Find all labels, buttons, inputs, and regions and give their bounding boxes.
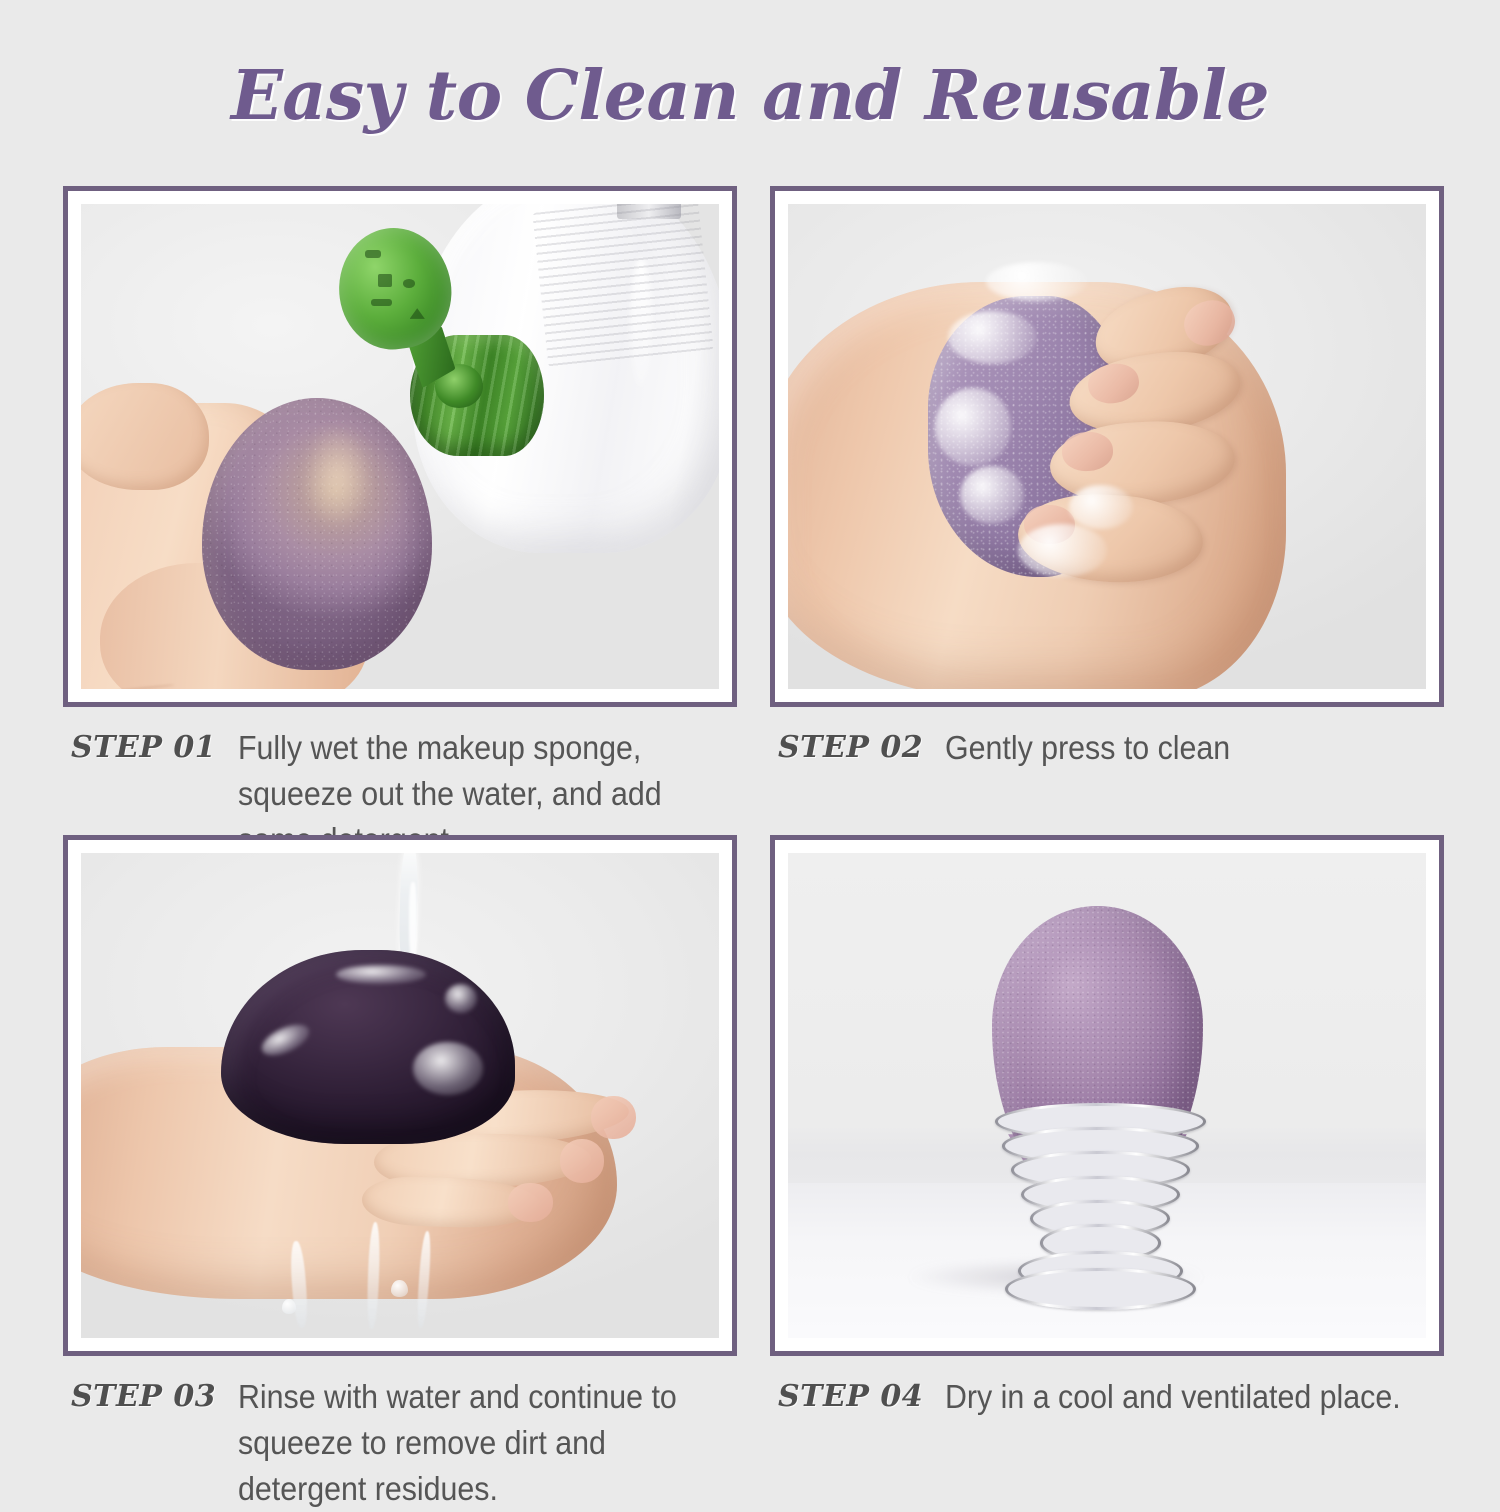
step-photo-4 xyxy=(770,835,1444,1356)
soap-foam xyxy=(948,311,1037,364)
photo-frame-2 xyxy=(770,186,1444,707)
lid-marking xyxy=(365,250,382,258)
finger-crease xyxy=(116,684,175,689)
photo-frame-4 xyxy=(770,835,1444,1356)
step-label-1: STEP 01 xyxy=(71,725,238,771)
caption-4: STEP 04 Dry in a cool and ventilated pla… xyxy=(770,1356,1444,1420)
lid-marking xyxy=(371,299,391,306)
water-droplet xyxy=(391,1280,408,1297)
step-label-2: STEP 02 xyxy=(778,725,945,771)
spiral-holder-base-ring xyxy=(1005,1268,1196,1310)
soap-foam xyxy=(986,262,1088,301)
step-text-3: Rinse with water and continue to squeeze… xyxy=(238,1374,697,1512)
water-glint xyxy=(445,984,477,1013)
instruction-infographic: Easy to Clean and Reusable xyxy=(0,0,1500,1500)
page-title: Easy to Clean and Reusable xyxy=(0,56,1500,136)
photo-image-2 xyxy=(788,204,1426,689)
water-glint xyxy=(413,1042,483,1095)
fingertip xyxy=(560,1139,605,1183)
lid-marking xyxy=(378,274,392,287)
step-label-3: STEP 03 xyxy=(71,1374,238,1420)
water-stream-highlight xyxy=(409,882,417,960)
step-text-2: Gently press to clean xyxy=(945,725,1404,771)
fingertip xyxy=(508,1183,553,1222)
water-droplet xyxy=(282,1299,296,1314)
sponge-highlight xyxy=(303,425,372,528)
photo-image-1 xyxy=(81,204,719,689)
step-caption-3: STEP 03 Rinse with water and continue to… xyxy=(63,1356,737,1436)
step-text-4: Dry in a cool and ventilated place. xyxy=(945,1374,1404,1420)
fingertip xyxy=(591,1096,636,1140)
steps-grid: STEP 01 Fully wet the makeup sponge, squ… xyxy=(63,186,1444,1436)
photo-frame-1 xyxy=(63,186,737,707)
photo-image-4 xyxy=(788,853,1426,1338)
step-label-4: STEP 04 xyxy=(778,1374,945,1420)
water-glint xyxy=(336,965,425,984)
caption-2: STEP 02 Gently press to clean xyxy=(770,707,1444,771)
step-caption-2: STEP 02 Gently press to clean xyxy=(770,707,1444,835)
caption-3: STEP 03 Rinse with water and continue to… xyxy=(63,1356,737,1512)
lid-marking xyxy=(403,279,414,288)
step-photo-2 xyxy=(770,186,1444,707)
soap-foam xyxy=(960,466,1024,524)
soap-foam xyxy=(1069,485,1133,529)
soap-foam xyxy=(935,388,1012,466)
soap-foam xyxy=(1018,524,1107,577)
photo-image-3 xyxy=(81,853,719,1338)
photo-frame-3 xyxy=(63,835,737,1356)
step-photo-1 xyxy=(63,186,737,707)
step-caption-1: STEP 01 Fully wet the makeup sponge, squ… xyxy=(63,707,737,835)
bottle-label xyxy=(533,204,714,367)
step-caption-4: STEP 04 Dry in a cool and ventilated pla… xyxy=(770,1356,1444,1436)
step-photo-3 xyxy=(63,835,737,1356)
thumb xyxy=(81,383,209,490)
